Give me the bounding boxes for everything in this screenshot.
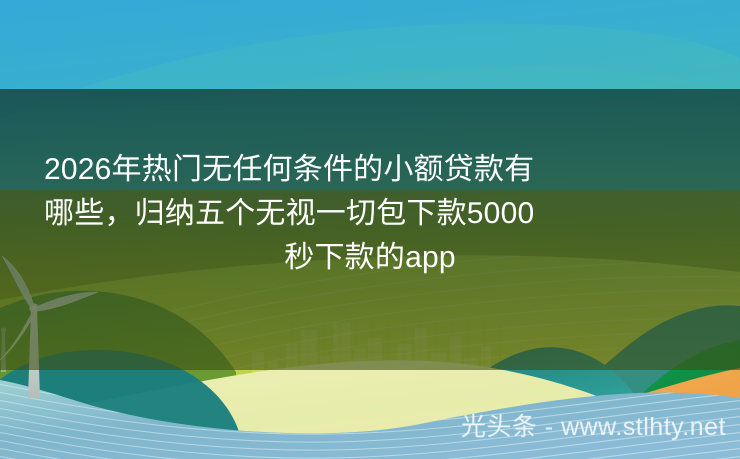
poster-canvas: 2026年热门无任何条件的小额贷款有 哪些，归纳五个无视一切包下款5000 秒下… xyxy=(0,0,740,459)
site-watermark: 光头条 - www.stlhty.net xyxy=(461,412,726,442)
headline-line-3: 秒下款的app xyxy=(44,236,696,280)
headline-line-1: 2026年热门无任何条件的小额贷款有 xyxy=(44,148,696,192)
page-title: 2026年热门无任何条件的小额贷款有 哪些，归纳五个无视一切包下款5000 秒下… xyxy=(0,148,740,280)
headline-line-2: 哪些，归纳五个无视一切包下款5000 xyxy=(44,192,696,236)
